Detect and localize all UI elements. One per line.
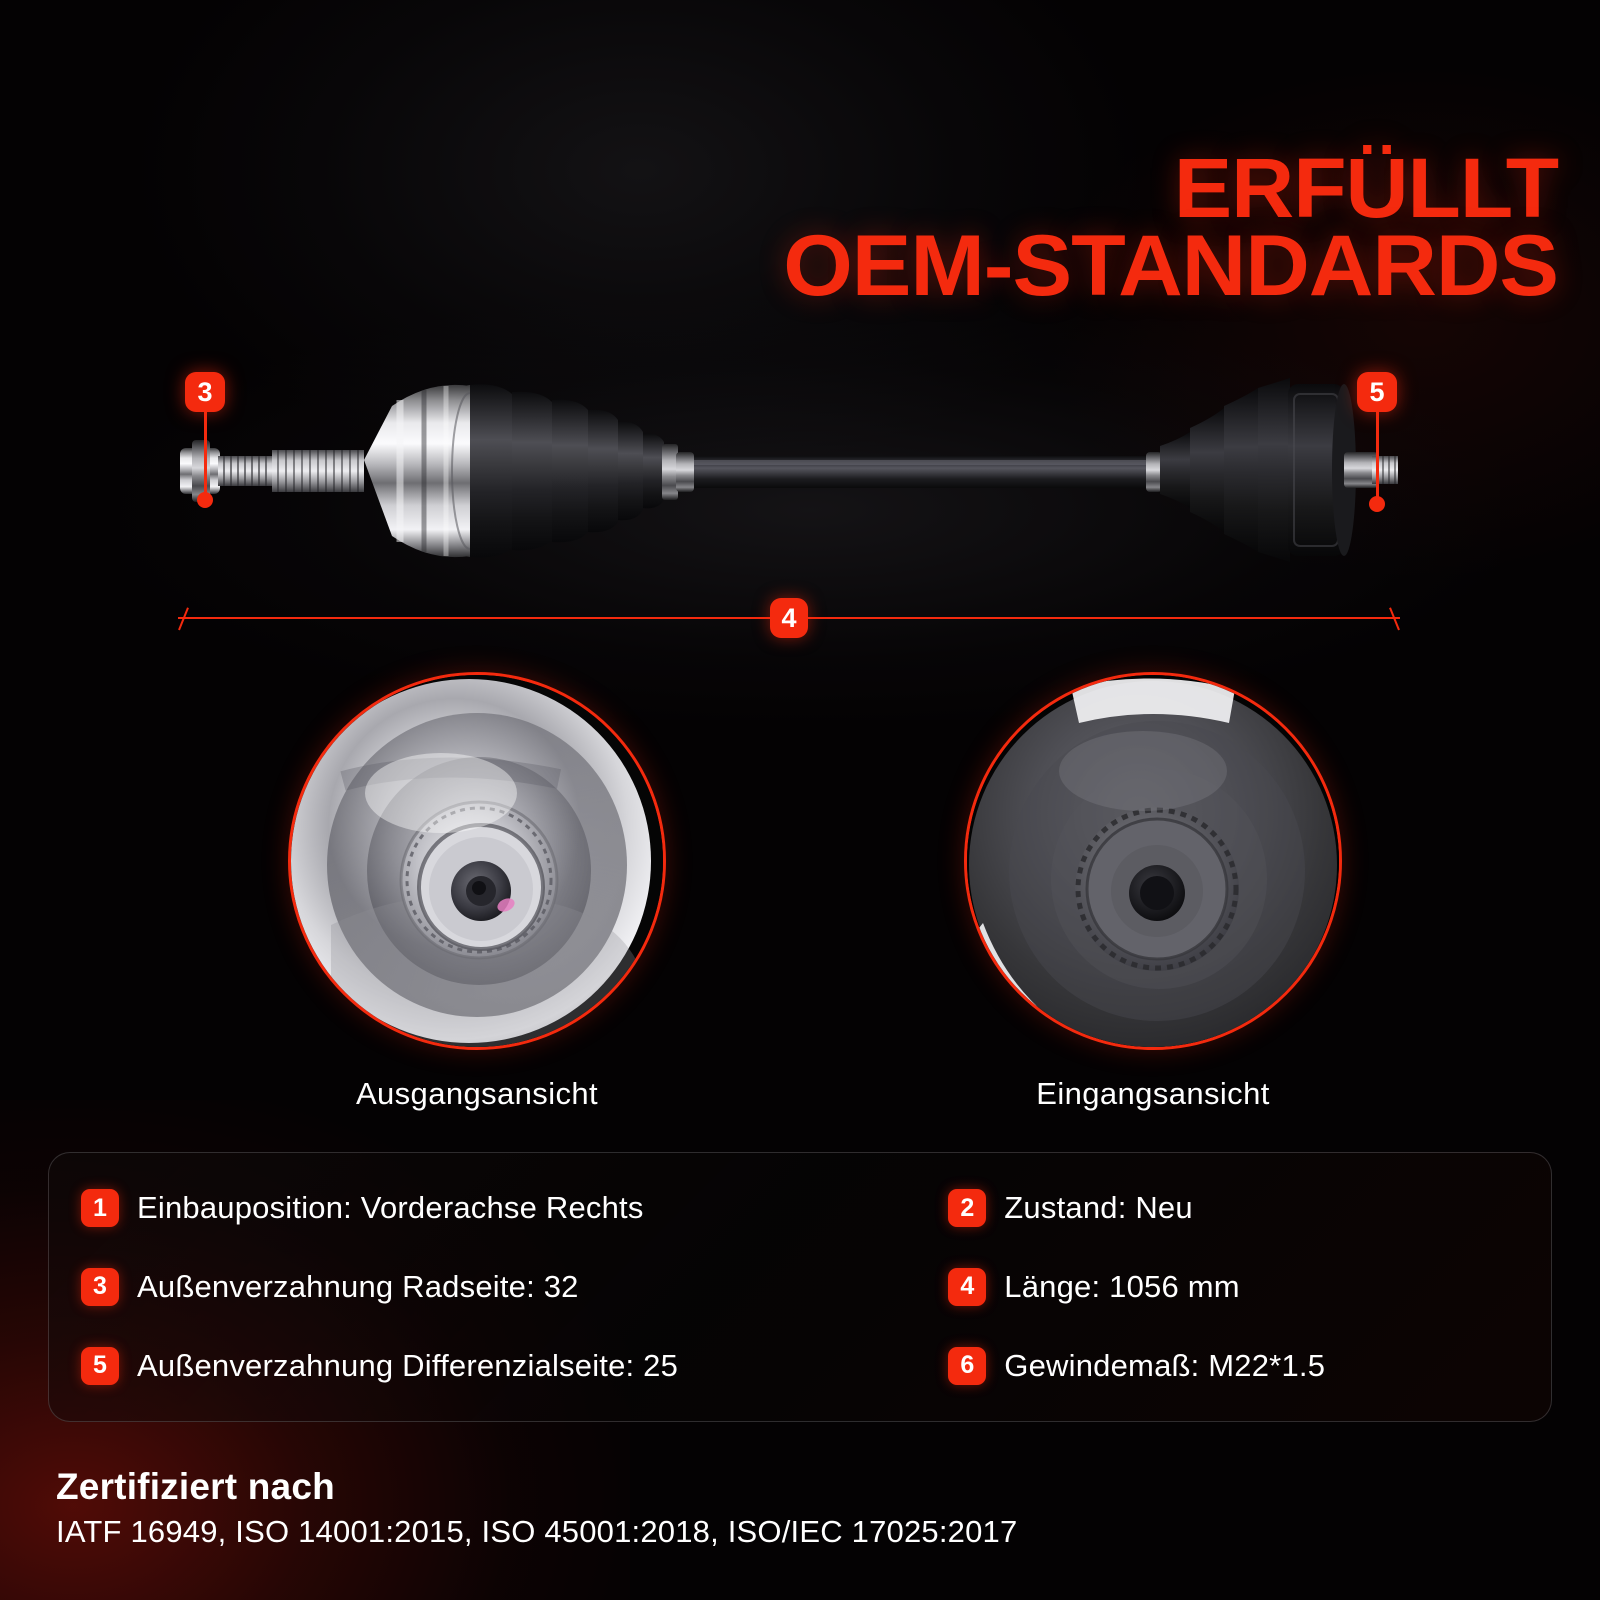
spec-1-number: 1	[81, 1189, 119, 1227]
spec-3-text: Außenverzahnung Radseite: 32	[137, 1269, 579, 1305]
headline: ERFÜLLT OEM-STANDARDS	[813, 150, 1558, 306]
input-view-ring	[964, 672, 1342, 1050]
dimension-badge: 4	[770, 598, 808, 638]
spec-1-text: Einbauposition: Vorderachse Rechts	[137, 1190, 644, 1226]
output-view-photo	[291, 675, 666, 1050]
specifications-panel: 1 Einbauposition: Vorderachse Rechts 2 Z…	[48, 1152, 1552, 1422]
certification-standards: IATF 16949, ISO 14001:2015, ISO 45001:20…	[56, 1514, 1017, 1550]
spec-6-number: 6	[948, 1347, 986, 1385]
output-view-caption: Ausgangsansicht	[288, 1076, 666, 1112]
input-view-photo	[967, 675, 1342, 1050]
detail-view-output: Ausgangsansicht	[288, 672, 666, 1112]
spec-2-number: 2	[948, 1189, 986, 1227]
spec-6-text: Gewindemaß: M22*1.5	[1004, 1348, 1325, 1384]
callout-3-badge: 3	[185, 372, 225, 412]
spec-2-text: Zustand: Neu	[1004, 1190, 1193, 1226]
spec-4-text: Länge: 1056 mm	[1004, 1269, 1239, 1305]
certification-block: Zertifiziert nach IATF 16949, ISO 14001:…	[56, 1466, 1017, 1550]
callout-3: 3	[185, 372, 225, 412]
headline-line-1: ERFÜLLT	[783, 150, 1558, 227]
spec-item-2: 2 Zustand: Neu	[948, 1189, 1551, 1227]
headline-line-2: OEM-STANDARDS	[783, 227, 1558, 306]
spec-item-1: 1 Einbauposition: Vorderachse Rechts	[81, 1189, 948, 1227]
spec-item-6: 6 Gewindemaß: M22*1.5	[948, 1347, 1551, 1385]
input-view-caption: Eingangsansicht	[964, 1076, 1342, 1112]
spec-4-number: 4	[948, 1268, 986, 1306]
infographic-canvas: ERFÜLLT OEM-STANDARDS	[0, 0, 1600, 1600]
callout-3-leader-line	[204, 412, 207, 500]
spec-item-5: 5 Außenverzahnung Differenzialseite: 25	[81, 1347, 948, 1385]
callout-5: 5	[1357, 372, 1397, 412]
detail-view-input: Eingangsansicht	[964, 672, 1342, 1112]
callout-5-leader-line	[1376, 412, 1379, 504]
spec-5-number: 5	[81, 1347, 119, 1385]
certification-title: Zertifiziert nach	[56, 1466, 1017, 1508]
callout-5-badge: 5	[1357, 372, 1397, 412]
spec-5-text: Außenverzahnung Differenzialseite: 25	[137, 1348, 678, 1384]
spec-item-4: 4 Länge: 1056 mm	[948, 1268, 1551, 1306]
output-view-ring	[288, 672, 666, 1050]
spec-item-3: 3 Außenverzahnung Radseite: 32	[81, 1268, 948, 1306]
spec-3-number: 3	[81, 1268, 119, 1306]
length-dimension-line: 4	[178, 596, 1400, 640]
